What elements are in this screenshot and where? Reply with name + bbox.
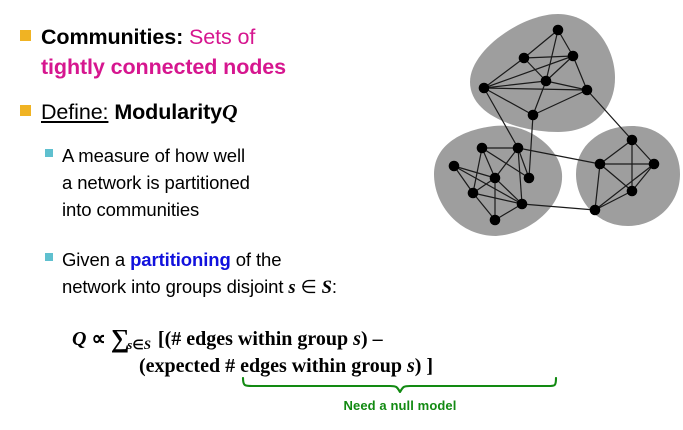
node xyxy=(490,215,501,226)
formula-lhs-q: Q xyxy=(72,328,86,350)
teal-square-bullet-icon xyxy=(45,149,53,157)
formula-term-2: (expected # edges within group xyxy=(139,355,407,377)
node xyxy=(513,143,524,154)
modularity-formula-line-2: (expected # edges within group s) ] xyxy=(139,355,433,378)
communities-label: Communities: xyxy=(41,25,183,49)
top-community-region xyxy=(470,14,615,132)
formula-term-2-close: ) ] xyxy=(415,355,433,377)
groups-disjoint-label: network into groups disjoint xyxy=(62,276,288,297)
bullet-communities-text: Communities: Sets of tightly connected n… xyxy=(41,22,286,82)
modularity-formula-line-1: Q ∝ ∑s∈S [(# edges within group s) – xyxy=(72,322,383,352)
node xyxy=(490,173,501,184)
node xyxy=(449,161,460,172)
node xyxy=(649,159,660,170)
node xyxy=(627,186,638,197)
node xyxy=(541,76,552,87)
measure-line-2: a network is partitioned xyxy=(62,172,250,193)
formula-term-1: (# edges within group xyxy=(165,328,354,350)
node xyxy=(528,110,539,121)
subbullet-measure-text: A measure of how well a network is parti… xyxy=(62,142,250,223)
formula-open-bracket: [ xyxy=(158,328,165,350)
subbullet-partitioning-text: Given a partitioning of the network into… xyxy=(62,246,337,302)
variable-s-upper: S xyxy=(322,278,332,298)
partitioning-keyword: partitioning xyxy=(130,249,231,270)
communities-tail: Sets of xyxy=(183,25,255,49)
sum-sub-S: S xyxy=(144,337,151,352)
teal-square-bullet-icon xyxy=(45,253,53,261)
node xyxy=(519,53,530,64)
communities-line2: tightly connected nodes xyxy=(41,55,286,79)
formula-term-1-close: ) – xyxy=(361,328,383,350)
node xyxy=(595,159,606,170)
element-of-symbol: ∈ xyxy=(296,276,322,297)
node xyxy=(582,85,593,96)
slide-canvas: Communities: Sets of tightly connected n… xyxy=(0,0,683,430)
node xyxy=(479,83,490,94)
bullet-communities: Communities: Sets of tightly connected n… xyxy=(20,22,350,82)
underbrace-icon xyxy=(240,377,560,393)
orange-square-bullet-icon xyxy=(20,105,31,116)
of-the-label: of the xyxy=(231,249,282,270)
network-svg xyxy=(432,8,682,236)
trailing-colon: : xyxy=(332,276,337,297)
node xyxy=(568,51,579,62)
subbullet-partitioning: Given a partitioning of the network into… xyxy=(45,246,385,302)
orange-square-bullet-icon xyxy=(20,30,31,41)
node xyxy=(468,188,479,199)
node xyxy=(590,205,601,216)
formula-term-2-var: s xyxy=(407,355,415,377)
given-a-label: Given a xyxy=(62,249,130,270)
sum-sub-in: ∈ xyxy=(132,337,143,352)
measure-line-1: A measure of how well xyxy=(62,145,245,166)
node xyxy=(524,173,535,184)
node xyxy=(517,199,528,210)
formula-term-1-var: s xyxy=(353,328,361,350)
modularity-label: Modularity xyxy=(114,100,222,124)
node xyxy=(477,143,488,154)
bullet-define-text: Define: ModularityQ xyxy=(41,97,237,127)
bullet-define-modularity: Define: ModularityQ xyxy=(20,97,350,127)
proportional-symbol: ∝ xyxy=(91,328,105,350)
null-model-caption: Need a null model xyxy=(240,398,560,413)
node xyxy=(627,135,638,146)
subbullet-measure: A measure of how well a network is parti… xyxy=(45,142,335,223)
community-network-diagram xyxy=(432,8,682,236)
summation-subscript: s∈S xyxy=(127,337,151,352)
modularity-symbol-q: Q xyxy=(222,100,237,124)
community-regions xyxy=(434,14,680,236)
measure-line-3: into communities xyxy=(62,199,199,220)
define-label: Define: xyxy=(41,100,108,124)
variable-s-lower: s xyxy=(288,278,295,298)
node xyxy=(553,25,564,36)
null-model-underbrace xyxy=(240,377,560,393)
